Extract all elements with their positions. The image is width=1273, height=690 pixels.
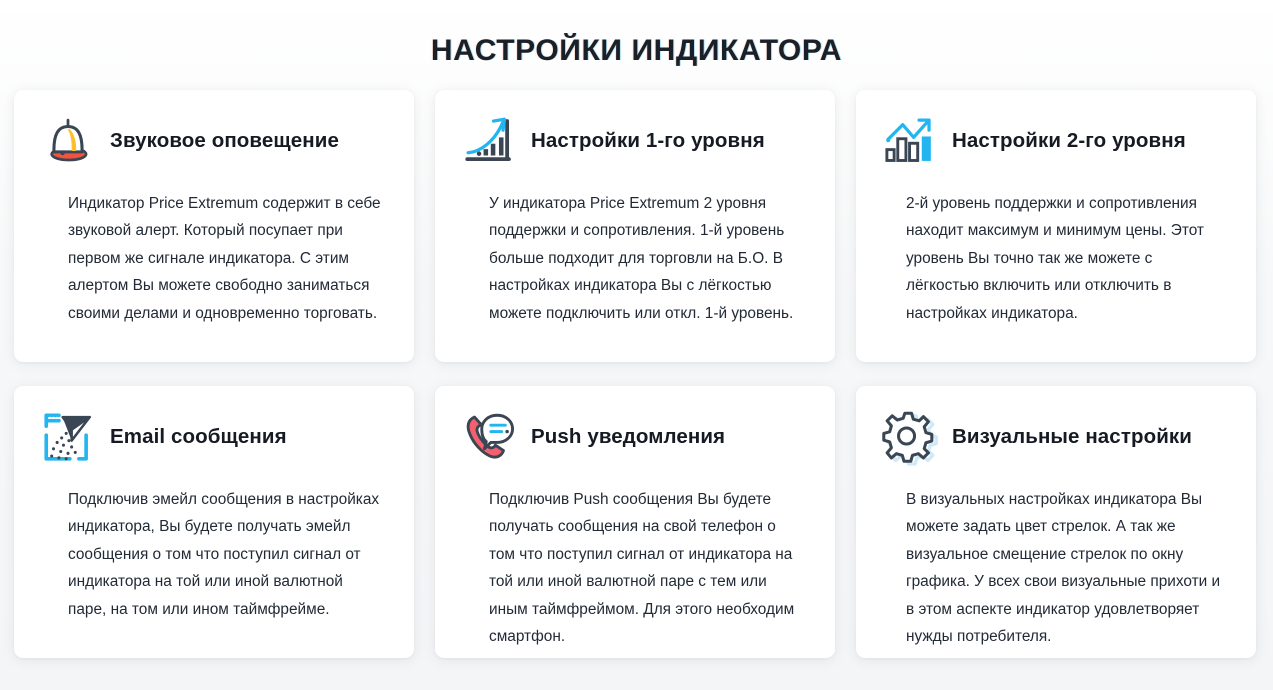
card-title: Настройки 1-го уровня	[531, 129, 765, 154]
bell-icon	[36, 110, 100, 172]
card-header: Email сообщения	[36, 404, 392, 470]
card-email-messages[interactable]: Email сообщения Подключив эмейл сообщени…	[14, 386, 414, 658]
card-text: У индикатора Price Extremum 2 уровня под…	[457, 190, 813, 327]
card-sound-alert[interactable]: Звуковое оповещение Индикатор Price Extr…	[14, 90, 414, 362]
card-header: Настройки 2-го уровня	[878, 108, 1234, 174]
card-header: Настройки 1-го уровня	[457, 108, 813, 174]
card-text: 2-й уровень поддержки и сопротивления на…	[878, 190, 1234, 327]
card-text: Подключив эмейл сообщения в настройках и…	[36, 486, 392, 623]
gear-icon	[878, 406, 942, 468]
card-level-1-settings[interactable]: Настройки 1-го уровня У индикатора Price…	[435, 90, 835, 362]
growth-chart-icon	[457, 110, 521, 172]
settings-card-grid: Звуковое оповещение Индикатор Price Extr…	[0, 90, 1273, 658]
card-push-notifications[interactable]: Push уведомления Подключив Push сообщени…	[435, 386, 835, 658]
card-title: Email сообщения	[110, 425, 287, 450]
phone-chat-icon	[457, 406, 521, 468]
send-email-icon	[36, 406, 100, 468]
bar-chart-arrow-icon	[878, 110, 942, 172]
card-level-2-settings[interactable]: Настройки 2-го уровня 2-й уровень поддер…	[856, 90, 1256, 362]
card-header: Push уведомления	[457, 404, 813, 470]
card-header: Визуальные настройки	[878, 404, 1234, 470]
page-title: НАСТРОЙКИ ИНДИКАТОРА	[0, 0, 1273, 90]
card-title: Push уведомления	[531, 425, 725, 450]
card-title: Звуковое оповещение	[110, 129, 339, 154]
indicator-settings-page: НАСТРОЙКИ ИНДИКАТОРА Звуковое оповещение	[0, 0, 1273, 690]
card-title: Визуальные настройки	[952, 425, 1192, 450]
card-text: В визуальных настройках индикатора Вы мо…	[878, 486, 1234, 651]
card-header: Звуковое оповещение	[36, 108, 392, 174]
card-visual-settings[interactable]: Визуальные настройки В визуальных настро…	[856, 386, 1256, 658]
card-title: Настройки 2-го уровня	[952, 129, 1186, 154]
card-text: Индикатор Price Extremum содержит в себе…	[36, 190, 392, 327]
card-text: Подключив Push сообщения Вы будете получ…	[457, 486, 813, 651]
